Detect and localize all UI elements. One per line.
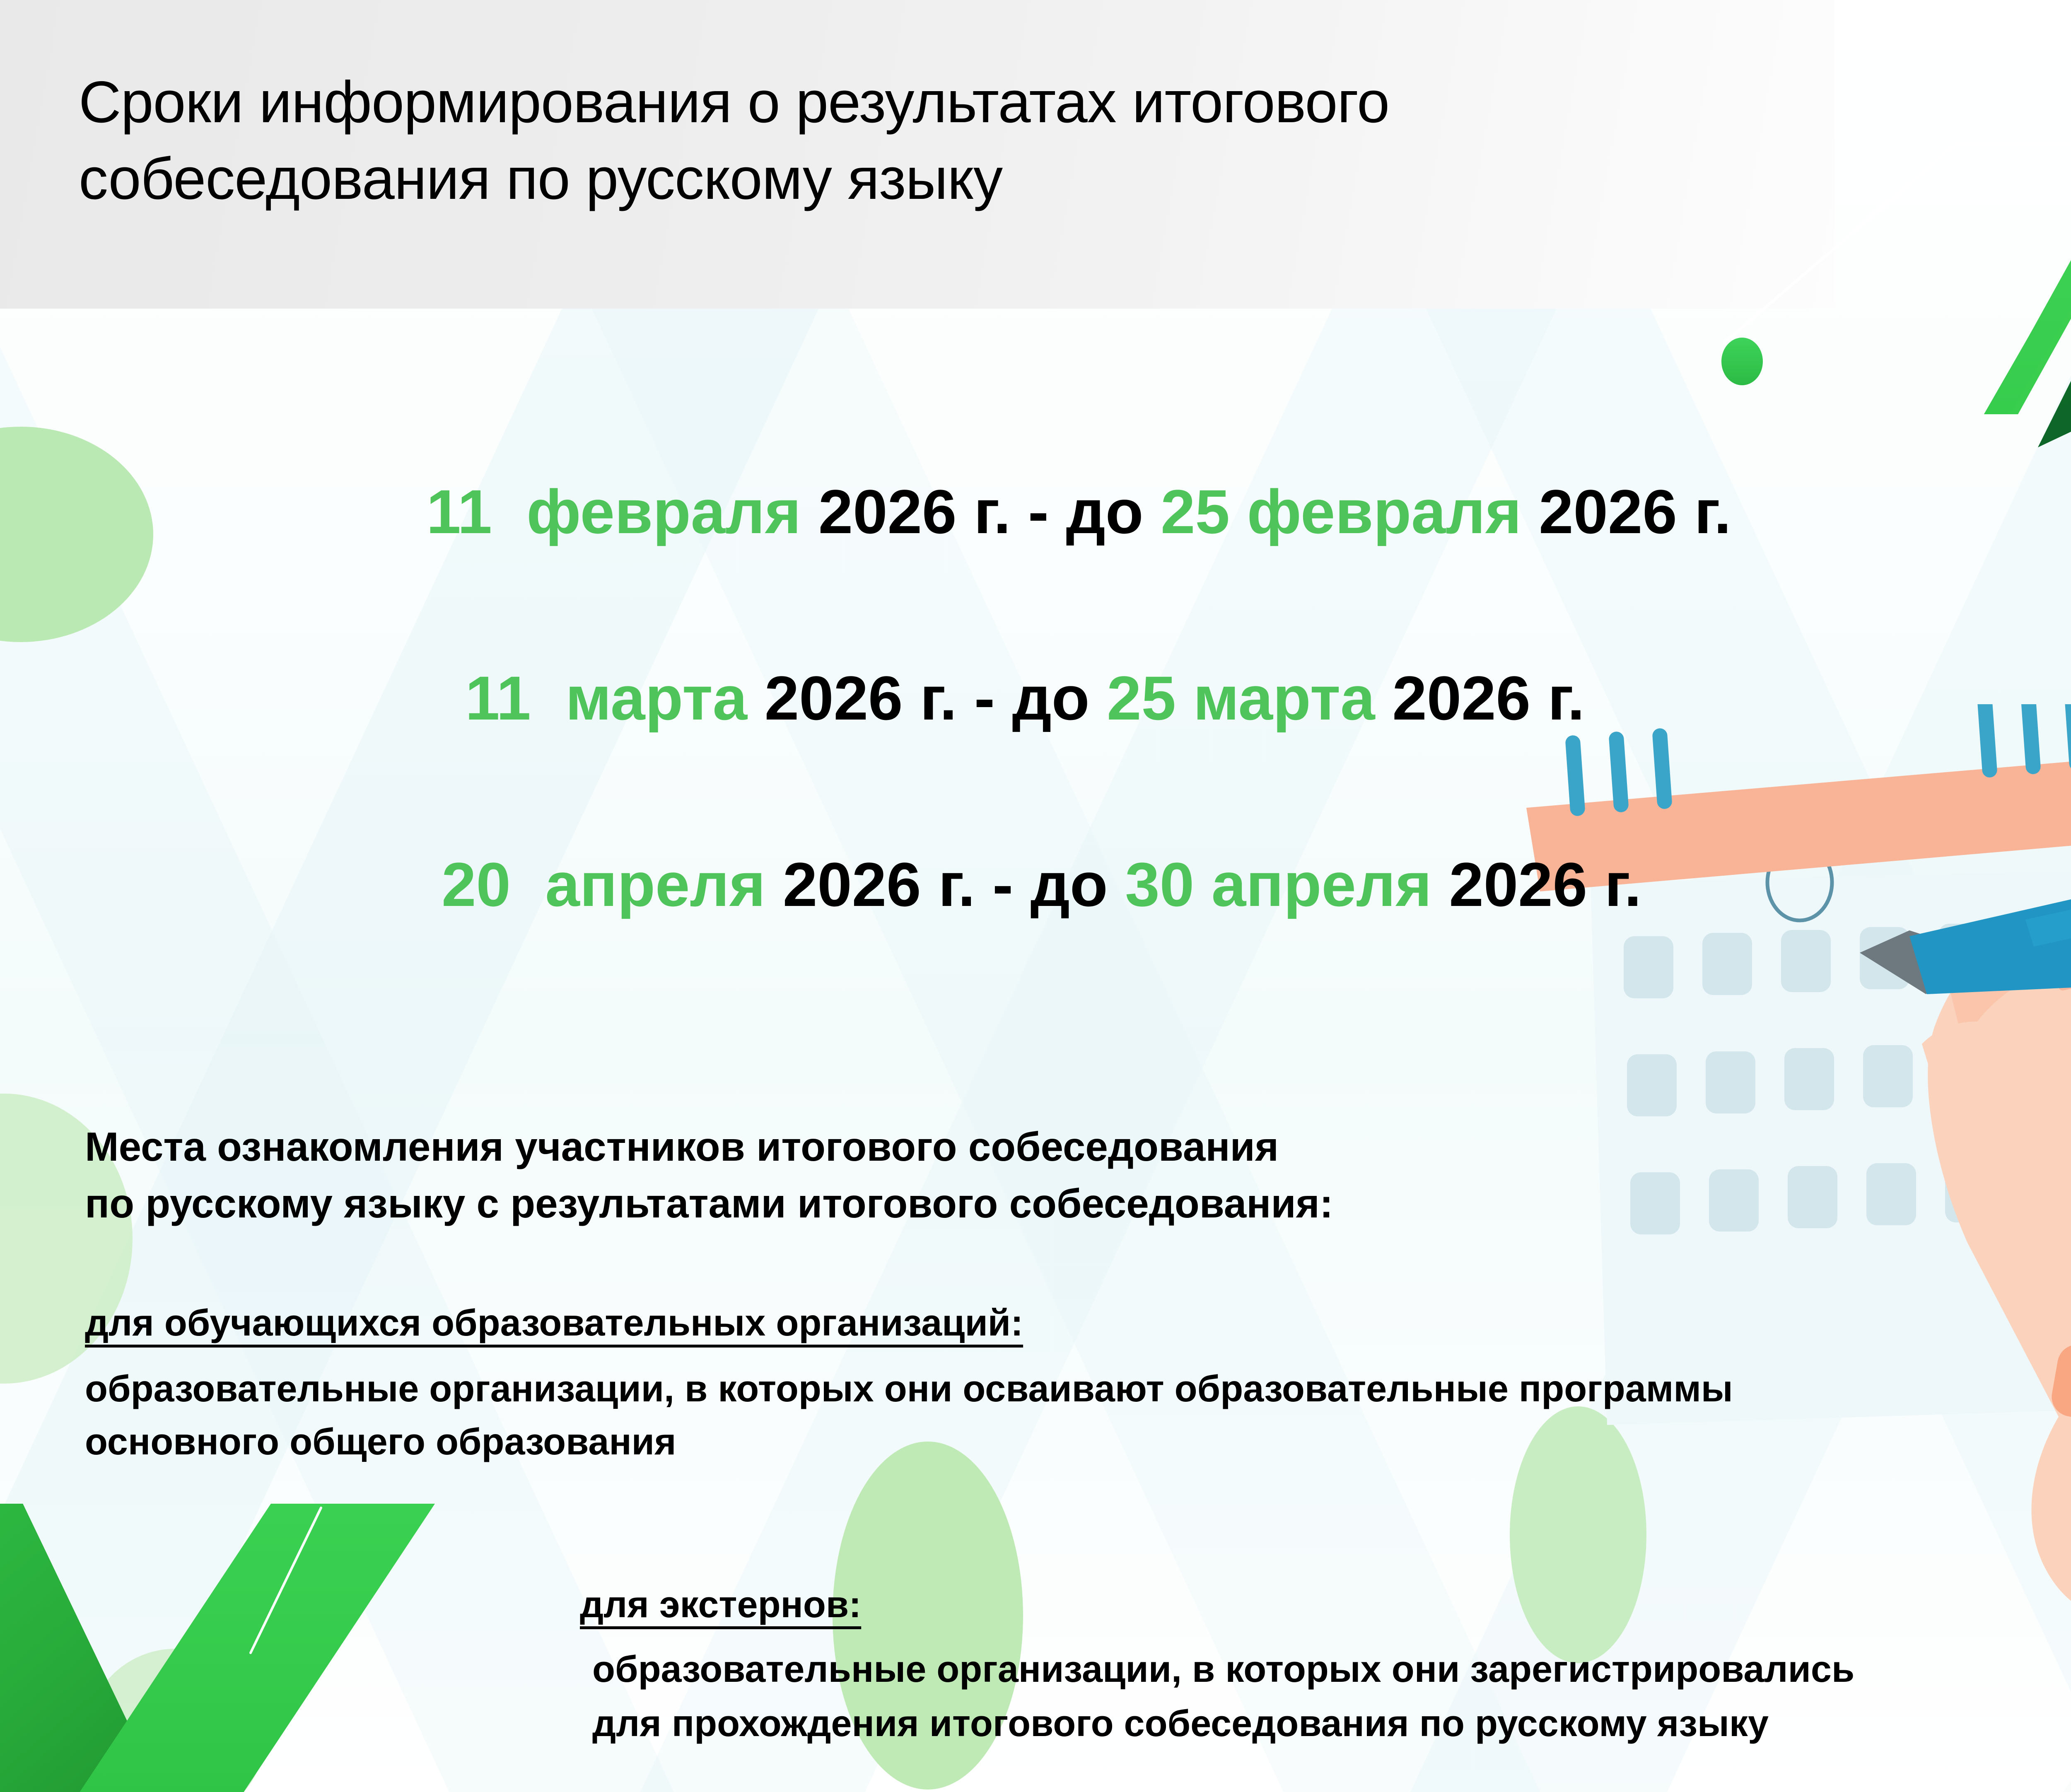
date-range-row: 20 апреля 2026 г. - до 30 апреля 2026 г. (0, 853, 2071, 915)
end-day: 30 (1125, 850, 1194, 919)
places-heading: Места ознакомления участников итогового … (85, 1118, 1907, 1232)
until-word: до (1031, 850, 1108, 919)
page-title: Сроки информирования о результатах итого… (79, 64, 1810, 217)
start-month: апреля (545, 850, 765, 919)
date-ranges-list: 11 февраля 2026 г. - до 25 февраля 2026 … (0, 481, 2071, 915)
until-word: до (1012, 663, 1090, 733)
date-range-row: 11 марта 2026 г. - до 25 марта 2026 г. (0, 667, 2071, 729)
page-title-line-1: Сроки информирования о результатах итого… (79, 64, 1810, 141)
start-day: 11 (426, 477, 492, 546)
range-separator: - (992, 850, 1013, 919)
students-label: для обучающихся образовательных организа… (85, 1301, 1023, 1345)
green-dot-top-right (1721, 338, 1763, 385)
students-body-line-2: основного общего образования (85, 1416, 2071, 1469)
start-year: 2026 г. (818, 477, 1011, 546)
until-word: до (1066, 477, 1144, 546)
start-day: 11 (465, 663, 531, 733)
end-year: 2026 г. (1449, 850, 1641, 919)
students-body: образовательные организации, в которых о… (85, 1363, 2071, 1469)
start-year: 2026 г. (783, 850, 975, 919)
places-heading-line-1: Места ознакомления участников итогового … (85, 1118, 1907, 1175)
end-day: 25 (1161, 477, 1230, 546)
places-heading-line-2: по русскому языку с результатами итогово… (85, 1175, 1907, 1232)
externs-body-line-2: для прохождения итогового собеседования … (592, 1697, 2071, 1751)
start-year: 2026 г. (765, 663, 957, 733)
end-month: февраля (1247, 477, 1522, 546)
students-body-line-1: образовательные организации, в которых о… (85, 1363, 2071, 1416)
externs-label: для экстернов: (580, 1582, 861, 1627)
end-year: 2026 г. (1539, 477, 1731, 546)
end-month: апреля (1212, 850, 1432, 919)
slide-root: Сроки информирования о результатах итого… (0, 0, 2071, 1792)
range-separator: - (1028, 477, 1049, 546)
start-month: февраля (526, 477, 801, 546)
start-month: марта (565, 663, 747, 733)
end-day: 25 (1107, 663, 1176, 733)
date-range-row: 11 февраля 2026 г. - до 25 февраля 2026 … (0, 481, 2071, 543)
start-day: 20 (442, 850, 511, 919)
range-separator: - (974, 663, 995, 733)
externs-body: образовательные организации, в которых о… (592, 1642, 2071, 1751)
end-year: 2026 г. (1392, 663, 1585, 733)
end-month: марта (1193, 663, 1375, 733)
page-title-line-2: собеседования по русскому языку (79, 141, 1810, 217)
externs-body-line-1: образовательные организации, в которых о… (592, 1642, 2071, 1697)
